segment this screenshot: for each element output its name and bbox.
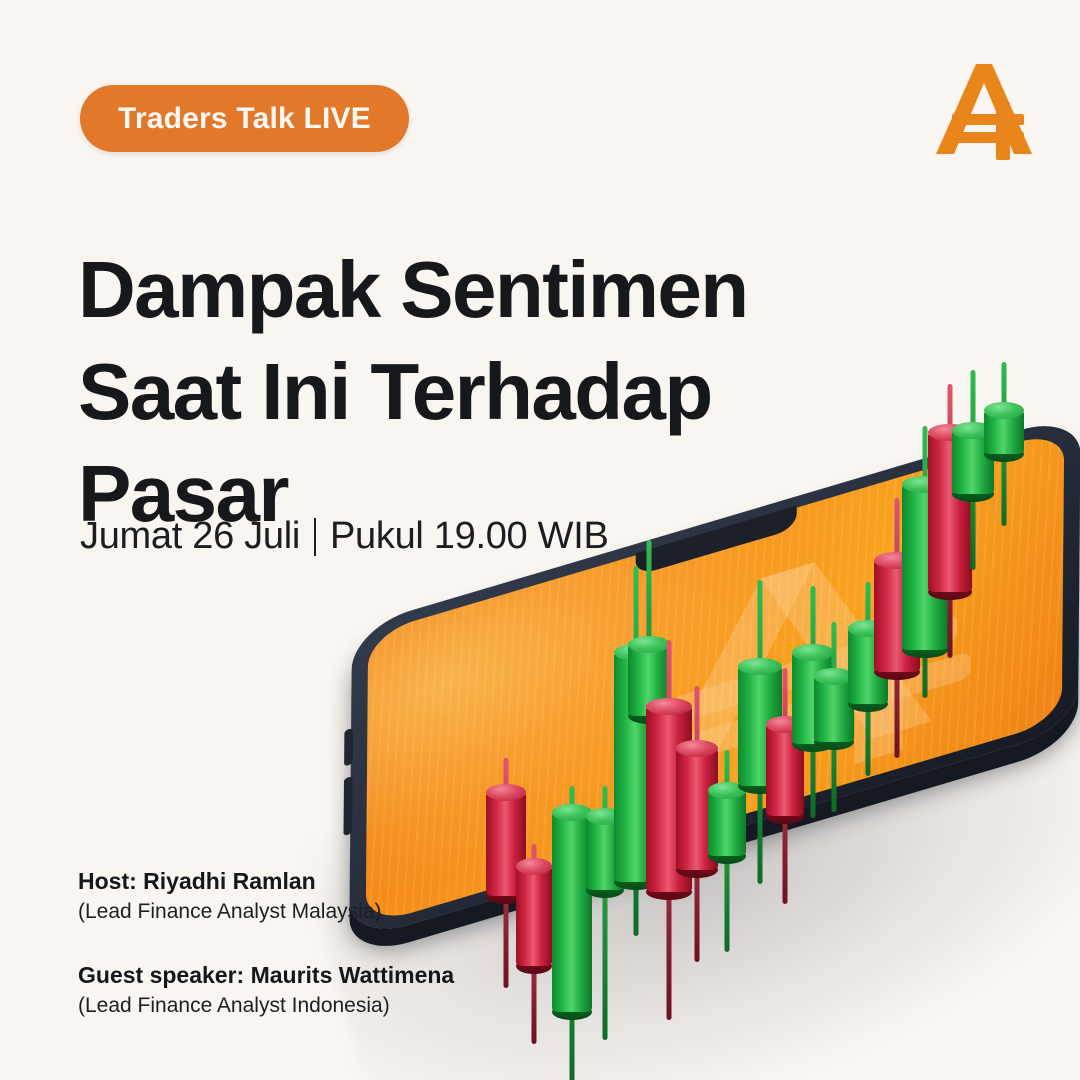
candle-body [586, 816, 624, 890]
poster-canvas: Traders Talk LIVE Dampak Sentimen Saat I… [0, 0, 1080, 1080]
candle-wick [725, 750, 730, 952]
candle-body [874, 560, 920, 672]
candle-cap [928, 424, 972, 441]
candle-body [614, 652, 658, 882]
schedule-date: Jumat 26 Juli [80, 515, 300, 558]
candle-wick [603, 786, 608, 1040]
candle-base [984, 446, 1024, 462]
candle-body [708, 790, 746, 856]
candle-wick [923, 426, 928, 698]
candle-body [792, 652, 834, 744]
candle-up [902, 484, 948, 650]
candle-cap [738, 658, 782, 675]
live-badge[interactable]: Traders Talk LIVE [80, 85, 409, 152]
candle-cap [676, 740, 718, 757]
candle-body [516, 866, 552, 966]
speaker-host: Host: Riyadhi Ramlan (Lead Finance Analy… [78, 866, 454, 926]
candle-base [614, 874, 658, 890]
candle-up [552, 812, 592, 1012]
candle-wick [866, 582, 871, 776]
candle-down [874, 560, 920, 672]
schedule-line: Jumat 26 Juli Pukul 19.00 WIB [80, 515, 609, 558]
candle-up [614, 652, 658, 882]
phone-side-button-power [343, 776, 352, 836]
candle-down [766, 724, 804, 816]
candle-wick [832, 622, 837, 812]
candle-body [928, 432, 972, 592]
candle-cap [984, 402, 1024, 419]
candle-wick [971, 370, 976, 570]
candle-base [646, 884, 692, 900]
candle-body [814, 676, 854, 742]
phone-side-button-volume [344, 728, 353, 767]
candle-up [586, 816, 624, 890]
speaker-guest: Guest speaker: Maurits Wattimena (Lead F… [78, 960, 454, 1020]
candle-cap [952, 422, 994, 439]
candle-down [928, 432, 972, 592]
candle-up [952, 430, 994, 494]
candle-cap [586, 808, 624, 825]
candle-wick [758, 580, 763, 884]
candle-wick [570, 786, 575, 1080]
candle-cap [486, 784, 526, 801]
candle-up [984, 410, 1024, 454]
candle-base [848, 696, 888, 712]
candle-cap [516, 858, 552, 875]
speaker-host-role: (Lead Finance Analyst Malaysia) [78, 897, 454, 926]
candle-cap [646, 698, 692, 715]
candle-cap [874, 552, 920, 569]
candle-cap [848, 620, 888, 637]
candle-cap [902, 476, 948, 493]
candle-body [984, 410, 1024, 454]
candle-cap [708, 782, 746, 799]
speaker-host-name: Host: Riyadhi Ramlan [78, 866, 454, 897]
candle-base [874, 664, 920, 680]
candle-wick [783, 668, 788, 904]
candle-up [814, 676, 854, 742]
candle-wick [695, 686, 700, 962]
candle-up [738, 666, 782, 786]
candle-base [586, 882, 624, 898]
candle-base [814, 734, 854, 750]
candle-cap [792, 644, 834, 661]
candle-base [708, 848, 746, 864]
page-title: Dampak Sentimen Saat Ini Terhadap Pasar [78, 250, 838, 556]
speaker-guest-name: Guest speaker: Maurits Wattimena [78, 960, 454, 991]
candle-down [646, 706, 692, 892]
candle-cap [628, 636, 670, 653]
candle-body [848, 628, 888, 704]
candle-body [902, 484, 948, 650]
candle-body [628, 644, 670, 716]
candle-wick [667, 640, 672, 1020]
candle-wick [811, 586, 816, 818]
candle-base [676, 862, 718, 878]
candle-base [792, 736, 834, 752]
candle-base [738, 778, 782, 794]
candle-cap [766, 716, 804, 733]
headline-line-1: Dampak Sentimen [78, 250, 838, 330]
schedule-time: Pukul 19.00 WIB [330, 515, 609, 558]
candle-down [676, 748, 718, 870]
candle-cap [552, 804, 592, 821]
candle-base [628, 708, 670, 724]
candle-down [486, 792, 526, 896]
brand-logo-a-icon [932, 58, 1038, 160]
candle-base [928, 584, 972, 600]
candle-up [628, 644, 670, 716]
speaker-guest-role: (Lead Finance Analyst Indonesia) [78, 991, 454, 1020]
candle-up [708, 790, 746, 856]
candle-cap [614, 644, 658, 661]
candle-body [766, 724, 804, 816]
candle-base [516, 958, 552, 974]
candle-wick [532, 844, 537, 1044]
candle-body [552, 812, 592, 1012]
candle-base [766, 808, 804, 824]
candle-body [952, 430, 994, 494]
candle-cap [814, 668, 854, 685]
candle-wick [948, 384, 953, 658]
candle-base [902, 642, 948, 658]
live-badge-label: Traders Talk LIVE [118, 102, 371, 136]
candle-down [516, 866, 552, 966]
candle-wick [634, 566, 639, 936]
candle-wick [1002, 362, 1007, 526]
candle-up [792, 652, 834, 744]
candle-body [738, 666, 782, 786]
candle-base [486, 888, 526, 904]
candle-up [848, 628, 888, 704]
speaker-list: Host: Riyadhi Ramlan (Lead Finance Analy… [78, 866, 454, 1055]
candle-body [676, 748, 718, 870]
candle-base [552, 1004, 592, 1020]
candle-body [486, 792, 526, 896]
candle-wick [647, 540, 652, 752]
candle-wick [504, 758, 509, 988]
candle-wick [895, 498, 900, 758]
schedule-separator [314, 518, 316, 556]
headline-line-2: Saat Ini Terhadap [78, 352, 838, 432]
candle-base [952, 486, 994, 502]
candle-body [646, 706, 692, 892]
